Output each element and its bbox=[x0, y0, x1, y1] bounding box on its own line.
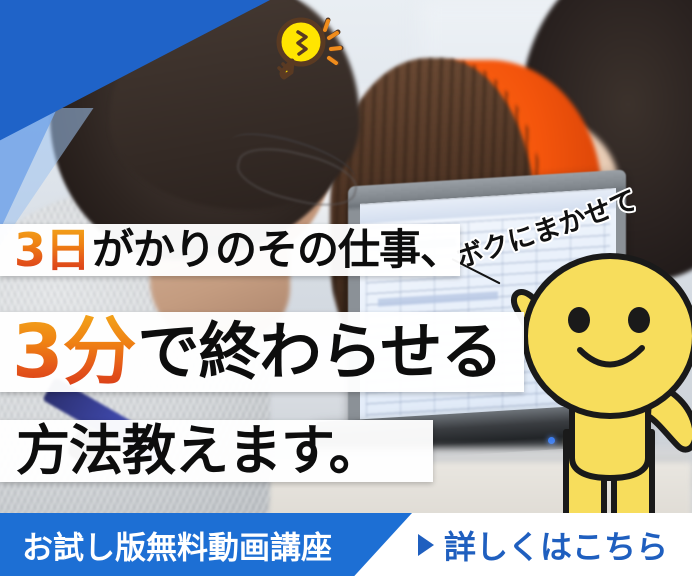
details-link-label: 詳しくはこちら bbox=[444, 522, 668, 568]
headline-2-rest: で終わらせる bbox=[138, 321, 503, 383]
headline-2-accent: 3分 bbox=[12, 315, 136, 389]
play-triangle-icon bbox=[418, 534, 434, 556]
promo-banner: ボクにまかせて 3日 がかりのその仕事、 3分 で終わらせる bbox=[0, 0, 692, 576]
bottom-cta-bar[interactable]: お試し版無料動画講座 詳しくはこちら bbox=[0, 513, 692, 576]
headline-3-rest: 方法教えます。 bbox=[16, 424, 382, 478]
headline-band-1: 3日 がかりのその仕事、 bbox=[0, 224, 460, 276]
headline-band-3: 方法教えます。 bbox=[0, 420, 433, 482]
details-link[interactable]: 詳しくはこちら bbox=[418, 522, 668, 568]
mascot-head bbox=[525, 256, 692, 416]
headline-band-2: 3分 で終わらせる bbox=[0, 312, 524, 392]
headline-1-rest: がかりのその仕事、 bbox=[92, 229, 461, 271]
free-trial-label: お試し版無料動画講座 bbox=[22, 522, 332, 567]
headline-1-accent: 3日 bbox=[14, 227, 90, 273]
lightbulb-icon bbox=[258, 6, 344, 84]
